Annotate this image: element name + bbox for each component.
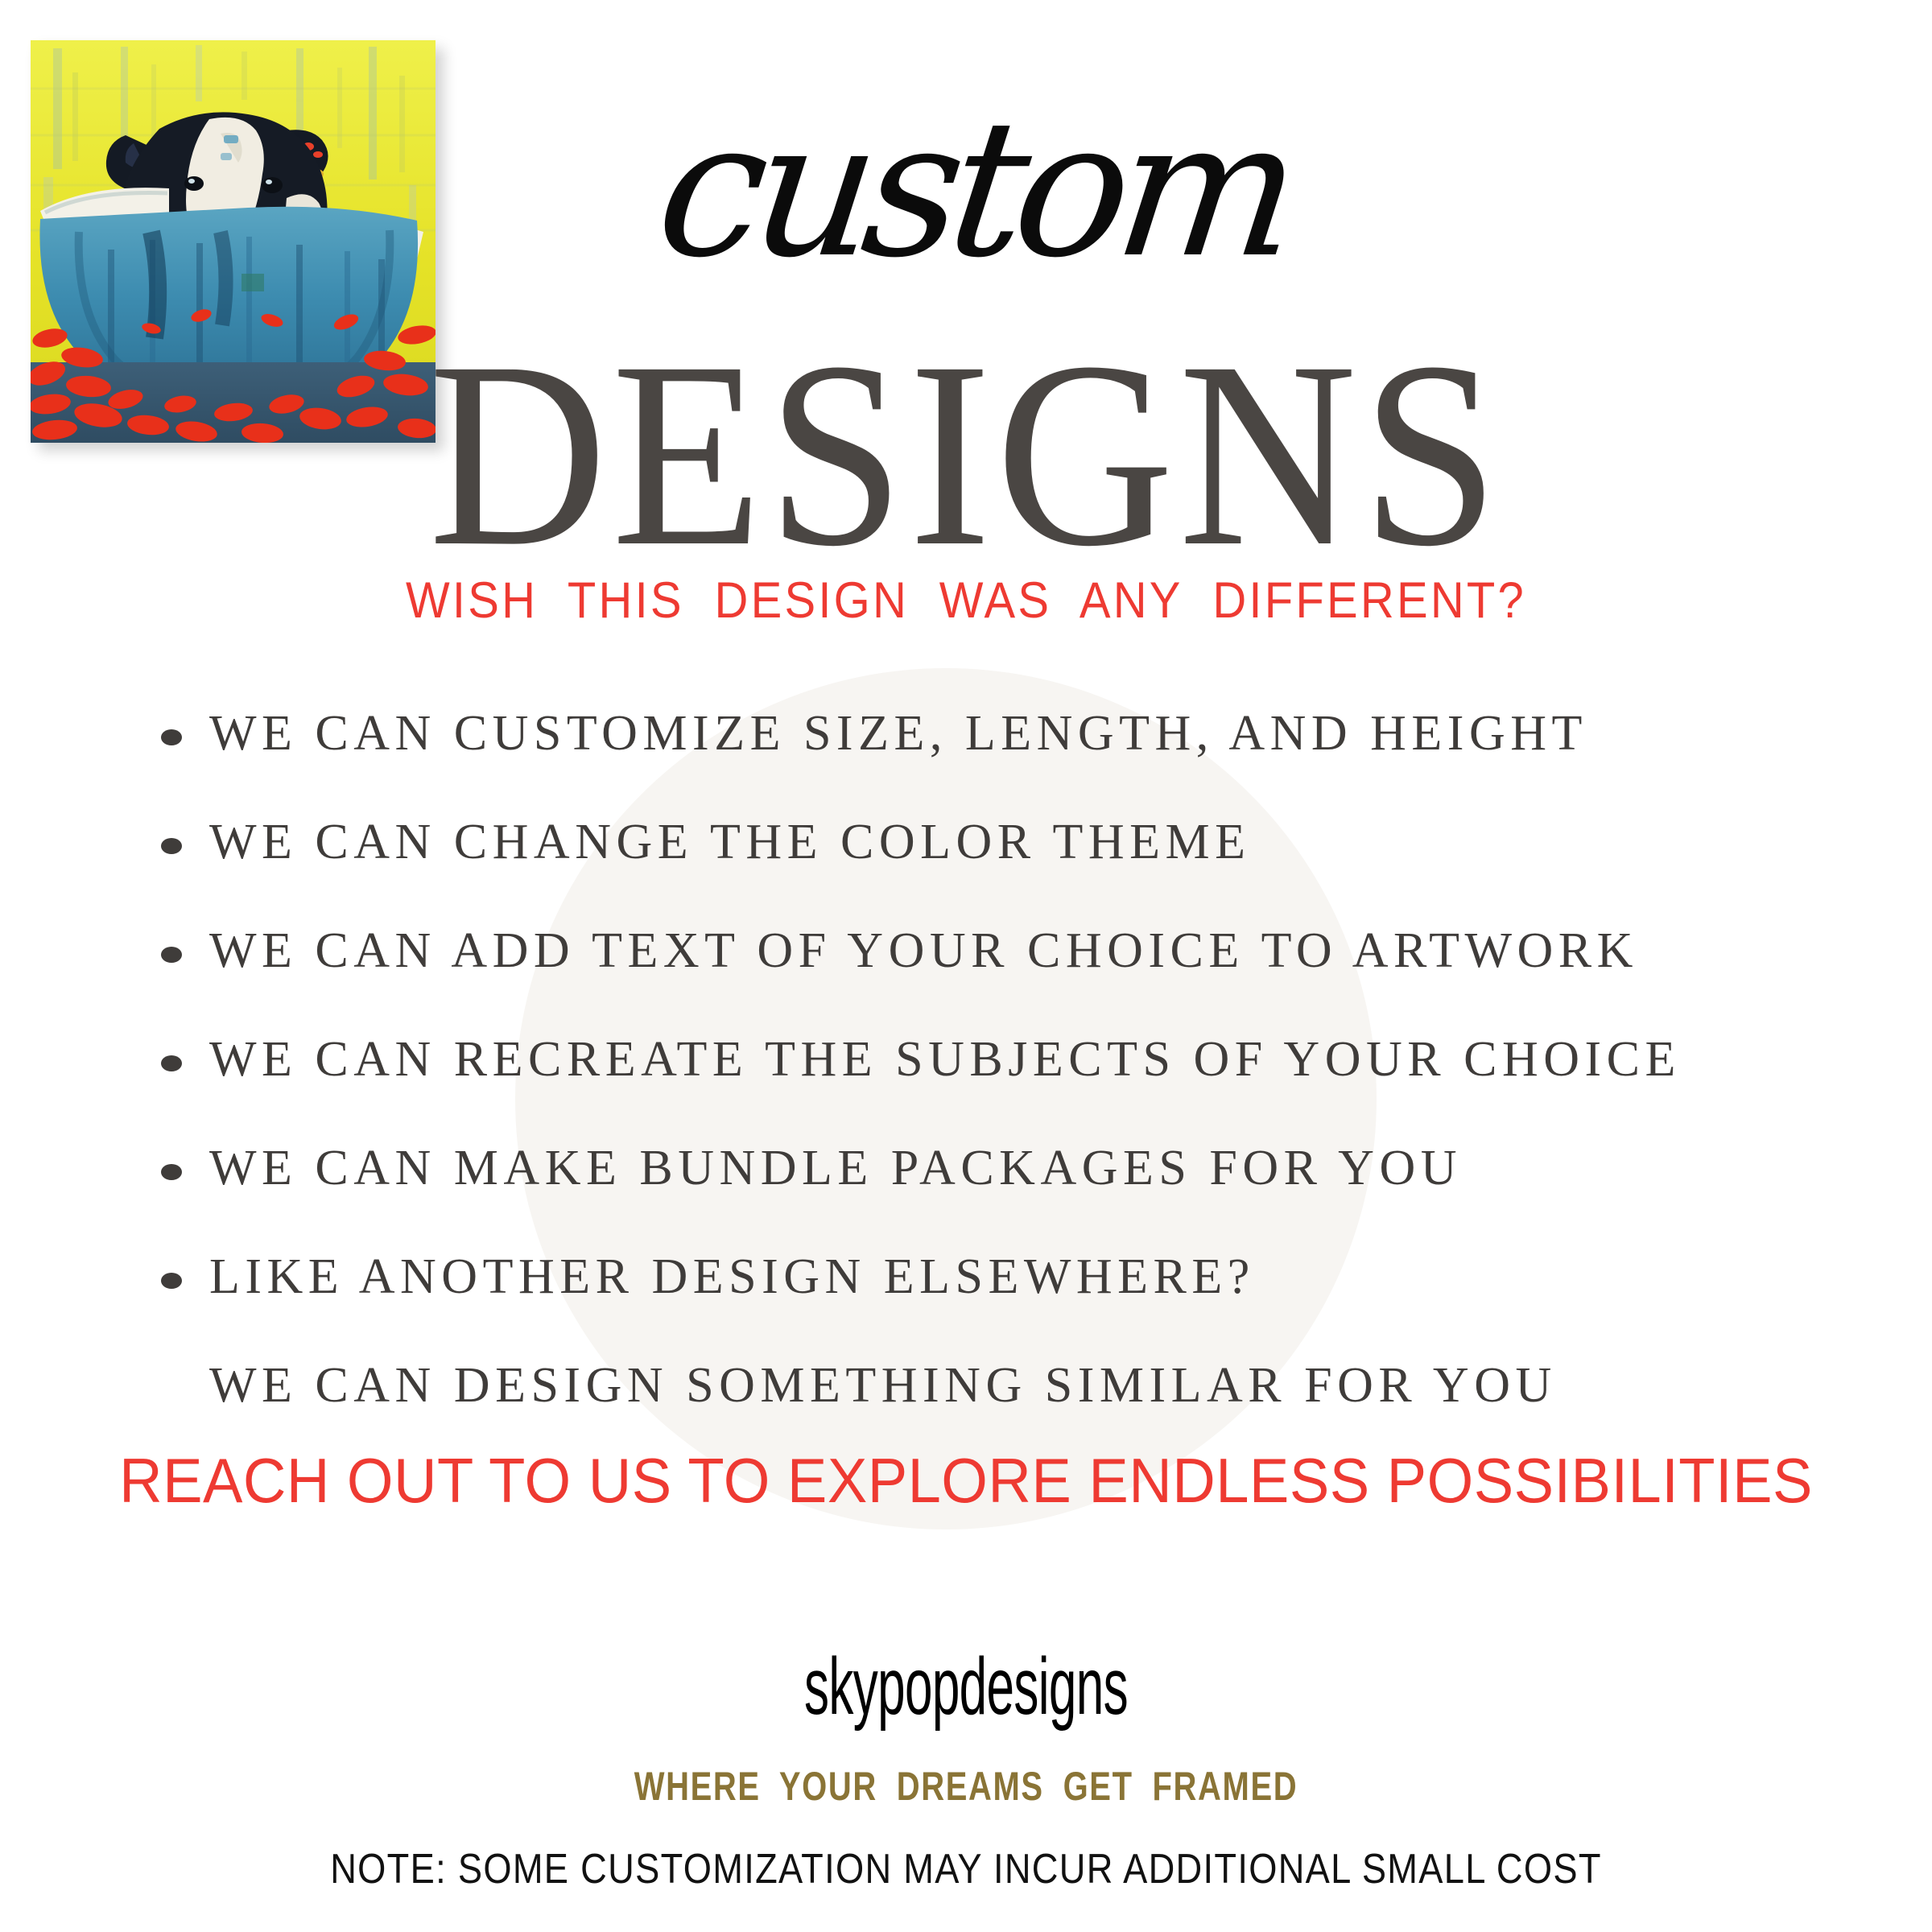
- feature-text: WE CAN RECREATE THE SUBJECTS OF YOUR CHO…: [209, 1034, 1681, 1084]
- bullet-dot-icon: [161, 1055, 182, 1071]
- feature-text: WE CAN MAKE BUNDLE PACKAGES FOR YOU: [209, 1143, 1462, 1193]
- brand-wordmark: skypopdesigns: [367, 1646, 1565, 1727]
- brand-tagline: WHERE YOUR DREAMS GET FRAMED: [193, 1766, 1739, 1806]
- feature-text: WE CAN CUSTOMIZE SIZE, LENGTH, AND HEIGH…: [209, 708, 1587, 758]
- page-title: DESIGNS: [68, 322, 1864, 588]
- list-item: WE CAN ADD TEXT OF YOUR CHOICE TO ARTWOR…: [0, 926, 1932, 1034]
- bullet-dot-icon: [161, 1164, 182, 1180]
- list-item: LIKE ANOTHER DESIGN ELSEWHERE?: [0, 1252, 1932, 1360]
- list-item: WE CAN RECREATE THE SUBJECTS OF YOUR CHO…: [0, 1034, 1932, 1143]
- list-item: WE CAN MAKE BUNDLE PACKAGES FOR YOU: [0, 1143, 1932, 1252]
- page-subtitle: WISH THIS DESIGN WAS ANY DIFFERENT?: [77, 576, 1855, 626]
- feature-text: WE CAN CHANGE THE COLOR THEME: [209, 817, 1251, 867]
- feature-text: LIKE ANOTHER DESIGN ELSEWHERE?: [209, 1252, 1255, 1302]
- feature-text: WE CAN ADD TEXT OF YOUR CHOICE TO ARTWOR…: [209, 926, 1638, 976]
- bullet-dot-icon: [161, 729, 182, 745]
- list-item: WE CAN CHANGE THE COLOR THEME: [0, 817, 1932, 926]
- call-to-action-text: REACH OUT TO US TO EXPLORE ENDLESS POSSI…: [48, 1449, 1884, 1512]
- feature-list: WE CAN CUSTOMIZE SIZE, LENGTH, AND HEIGH…: [0, 708, 1932, 1463]
- feature-text: WE CAN DESIGN SOMETHING SIMILAR FOR YOU: [209, 1360, 1557, 1410]
- footer-note: NOTE: SOME CUSTOMIZATION MAY INCUR ADDIT…: [126, 1848, 1806, 1890]
- list-item: WE CAN CUSTOMIZE SIZE, LENGTH, AND HEIGH…: [0, 708, 1932, 817]
- page-script-title: custom: [0, 95, 1932, 284]
- bullet-dot-icon: [161, 1273, 182, 1289]
- bullet-dot-icon: [161, 838, 182, 854]
- bullet-dot-icon: [161, 947, 182, 963]
